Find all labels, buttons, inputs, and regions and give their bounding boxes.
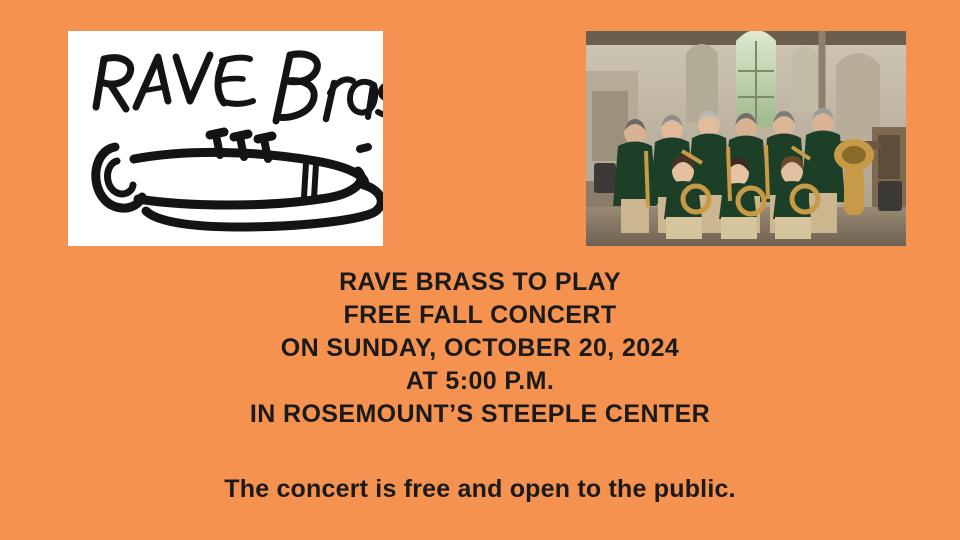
- closing-line: The concert is free and open to the publ…: [0, 475, 960, 504]
- ensemble-photo: [586, 31, 906, 246]
- announcement-text: RAVE BRASS TO PLAY FREE FALL CONCERT ON …: [0, 266, 960, 504]
- concert-poster: RAVE BRASS TO PLAY FREE FALL CONCERT ON …: [0, 0, 960, 540]
- rave-brass-logo: [68, 31, 383, 246]
- announcement-line-1: RAVE BRASS TO PLAY: [0, 266, 960, 299]
- announcement-line-4: AT 5:00 P.M.: [0, 365, 960, 398]
- announcement-line-2: FREE FALL CONCERT: [0, 299, 960, 332]
- rave-brass-logo-card: [68, 31, 383, 246]
- announcement-line-3: ON SUNDAY, OCTOBER 20, 2024: [0, 332, 960, 365]
- announcement-line-5: IN ROSEMOUNT’S STEEPLE CENTER: [0, 398, 960, 431]
